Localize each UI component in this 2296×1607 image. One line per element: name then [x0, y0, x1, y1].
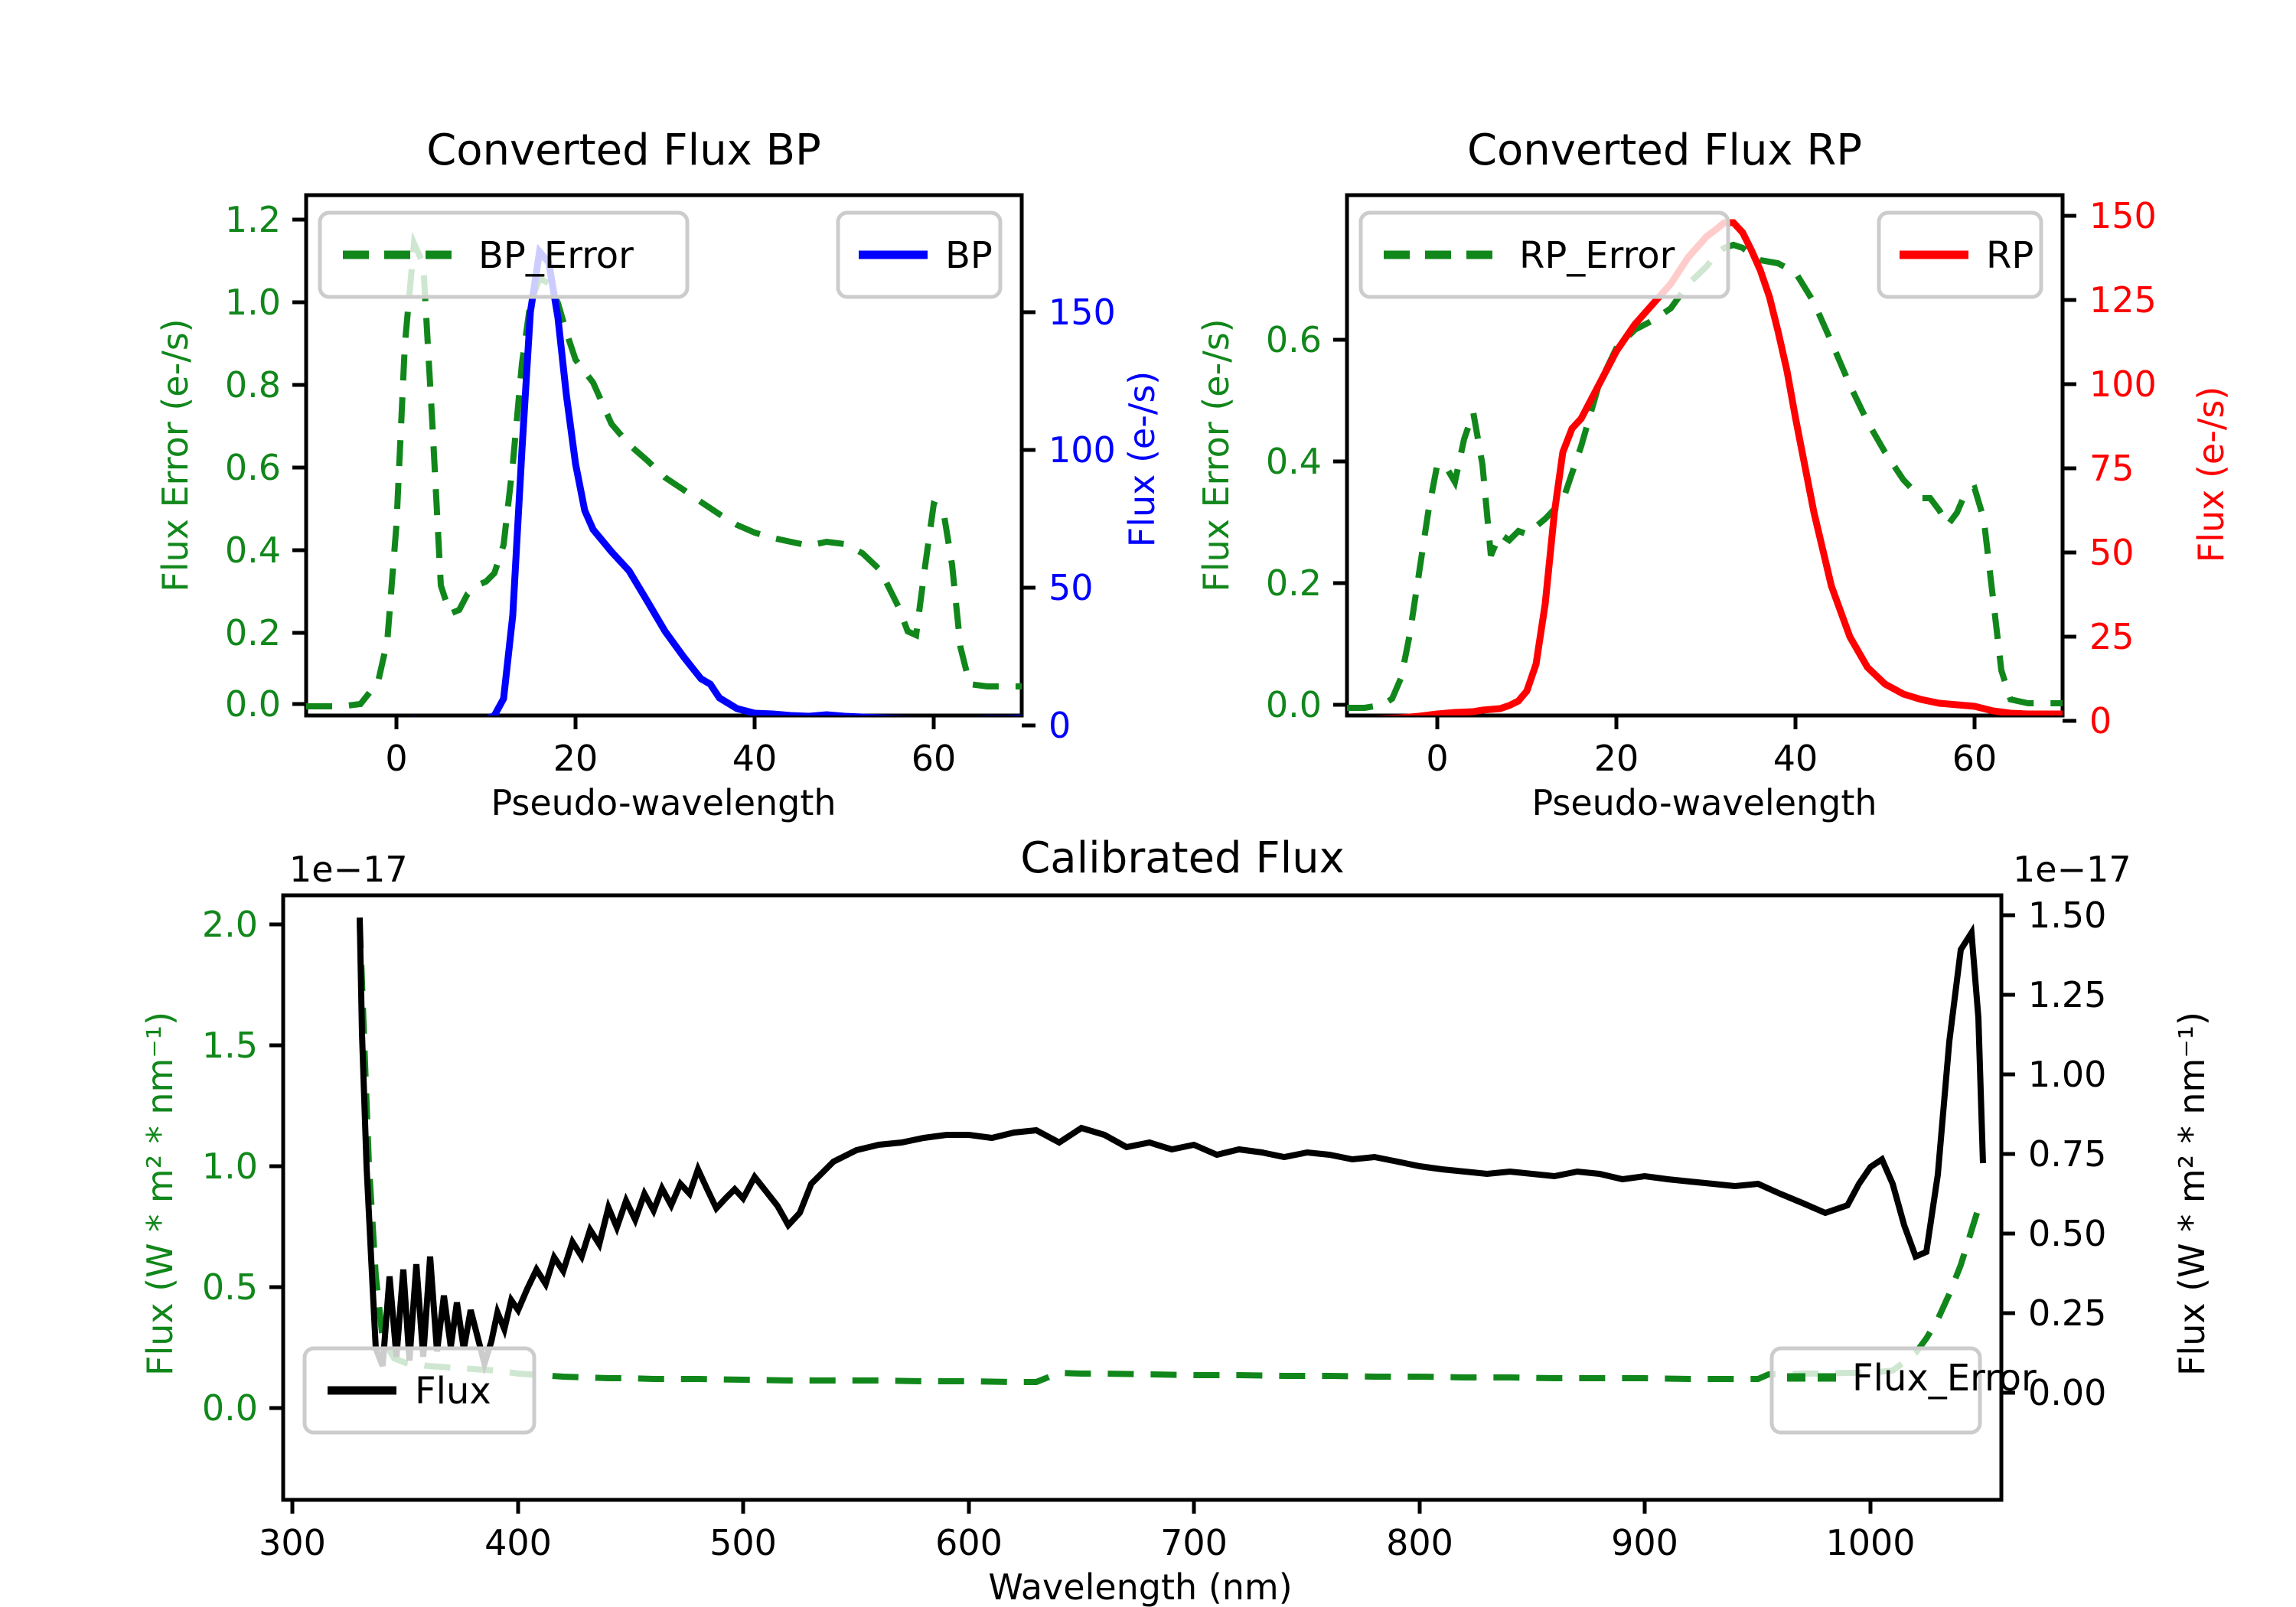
- cal-xtick-900: 900: [1611, 1522, 1678, 1563]
- cal-ytick-1_0: 1.0: [202, 1146, 258, 1187]
- cal-xlabel: Wavelength (nm): [988, 1566, 1292, 1607]
- rp-left-yaxis: 0.6 0.4 0.2 0.0 Flux Error (e-/s): [1195, 318, 1347, 725]
- rp-ytick-right-50: 50: [2089, 532, 2135, 573]
- rp-ytick-0_4: 0.4: [1266, 441, 1322, 482]
- cal-xtick-500: 500: [709, 1522, 777, 1563]
- rp-xtick-0: 0: [1426, 738, 1448, 779]
- bp-ytick-right-100: 100: [1049, 429, 1116, 471]
- rp-xtick-60: 60: [1952, 738, 1998, 779]
- matplotlib-figure: Converted Flux BP 1.2 1.0 0.8 0.6 0.4 0.…: [0, 0, 2296, 1607]
- rp-error-series: [1347, 245, 2064, 708]
- rp-ytick-right-100: 100: [2089, 363, 2157, 405]
- rp-right-ylabel: Flux (e-/s): [2190, 386, 2232, 563]
- cal-legend-error[interactable]: Flux_Error: [1772, 1348, 2037, 1433]
- cal-xtick-1000: 1000: [1825, 1522, 1915, 1563]
- cal-ytick-right-0_50: 0.50: [2028, 1213, 2106, 1254]
- bp-error-series: [306, 243, 1023, 706]
- bp-ytick-0_4: 0.4: [225, 530, 281, 571]
- rp-legend-error-label: RP_Error: [1519, 234, 1675, 277]
- bp-right-yaxis: 150 100 50 0 Flux (e-/s): [1022, 292, 1163, 746]
- bp-xtick-60: 60: [912, 738, 957, 779]
- bp-ytick-0_8: 0.8: [225, 364, 281, 406]
- bp-ytick-0_2: 0.2: [225, 612, 281, 654]
- panel-converted-flux-rp: Converted Flux RP 0.6 0.4 0.2 0.0 Flux E…: [1195, 125, 2232, 823]
- rp-ytick-right-125: 125: [2089, 279, 2157, 321]
- bp-left-ylabel: Flux Error (e-/s): [155, 318, 196, 592]
- rp-ytick-0_6: 0.6: [1266, 319, 1322, 360]
- cal-ytick-1_5: 1.5: [202, 1025, 258, 1066]
- cal-ytick-right-0_75: 0.75: [2028, 1133, 2106, 1175]
- rp-xlabel: Pseudo-wavelength: [1531, 782, 1877, 823]
- bp-right-ylabel: Flux (e-/s): [1121, 371, 1163, 548]
- cal-xtick-300: 300: [259, 1522, 326, 1563]
- cal-legend-flux[interactable]: Flux: [305, 1348, 534, 1433]
- bp-flux-series: [306, 252, 1023, 724]
- cal-left-offset-text: 1e−17: [289, 849, 408, 890]
- cal-xtick-700: 700: [1160, 1522, 1228, 1563]
- bp-ytick-1_2: 1.2: [225, 199, 281, 240]
- cal-ytick-right-1_50: 1.50: [2028, 895, 2106, 936]
- bp-xlabel: Pseudo-wavelength: [491, 782, 836, 823]
- bp-xaxis: 0 20 40 60 Pseudo-wavelength: [385, 715, 956, 823]
- rp-ytick-0_0: 0.0: [1266, 684, 1322, 725]
- cal-ytick-0_5: 0.5: [202, 1266, 258, 1308]
- cal-ytick-right-1_25: 1.25: [2028, 974, 2106, 1015]
- rp-xtick-40: 40: [1773, 738, 1818, 779]
- bp-xtick-20: 20: [553, 738, 598, 779]
- bp-legend-flux[interactable]: BP: [838, 213, 1000, 297]
- cal-panel-title: Calibrated Flux: [1020, 833, 1345, 883]
- bp-ytick-right-0: 0: [1049, 705, 1071, 746]
- cal-legend-flux-label: Flux: [415, 1370, 491, 1413]
- rp-legend-flux-label: RP: [1986, 234, 2033, 277]
- cal-legend-error-label: Flux_Error: [1852, 1357, 2037, 1400]
- rp-ytick-right-150: 150: [2089, 195, 2157, 236]
- figure-canvas: Converted Flux BP 1.2 1.0 0.8 0.6 0.4 0.…: [0, 0, 2296, 1607]
- bp-legend-error[interactable]: BP_Error: [320, 213, 687, 297]
- rp-left-ylabel: Flux Error (e-/s): [1195, 318, 1237, 592]
- cal-left-yaxis: 2.0 1.5 1.0 0.5 0.0 Flux (W * m² * nm⁻¹): [139, 904, 283, 1429]
- bp-ytick-0_6: 0.6: [225, 447, 281, 488]
- panel-calibrated-flux: Calibrated Flux 1e−17 1e−17 2.0 1.5 1.0 …: [139, 833, 2213, 1607]
- cal-ytick-right-0_25: 0.25: [2028, 1292, 2106, 1334]
- bp-ytick-right-150: 150: [1049, 292, 1116, 333]
- rp-ytick-right-0: 0: [2089, 700, 2112, 742]
- bp-panel-title: Converted Flux BP: [426, 125, 821, 175]
- rp-ytick-right-25: 25: [2089, 616, 2135, 657]
- bp-ytick-0_0: 0.0: [225, 683, 281, 725]
- cal-ytick-0_0: 0.0: [202, 1387, 258, 1429]
- cal-xtick-400: 400: [484, 1522, 552, 1563]
- rp-ytick-right-75: 75: [2089, 448, 2135, 489]
- bp-xtick-0: 0: [385, 738, 407, 779]
- cal-right-offset-text: 1e−17: [2013, 849, 2131, 890]
- cal-left-ylabel: Flux (W * m² * nm⁻¹): [139, 1012, 181, 1376]
- rp-legend-flux[interactable]: RP: [1879, 213, 2041, 297]
- bp-legend-error-label: BP_Error: [478, 234, 634, 277]
- cal-xtick-600: 600: [935, 1522, 1003, 1563]
- bp-ytick-1_0: 1.0: [225, 282, 281, 323]
- rp-ytick-0_2: 0.2: [1266, 562, 1322, 604]
- rp-panel-title: Converted Flux RP: [1467, 125, 1862, 175]
- cal-xaxis: 300 400 500 600 700 800 900 1000 Wavelen…: [259, 1500, 1915, 1607]
- cal-right-ylabel: Flux (W * m² * nm⁻¹): [2171, 1012, 2213, 1376]
- rp-xtick-20: 20: [1594, 738, 1639, 779]
- cal-flux-series: [360, 918, 1983, 1366]
- cal-xtick-800: 800: [1386, 1522, 1453, 1563]
- cal-ytick-2_0: 2.0: [202, 904, 258, 945]
- rp-right-yaxis: 150 125 100 75 50 25 0 Flux (e-/s): [2063, 195, 2232, 742]
- rp-xaxis: 0 20 40 60 Pseudo-wavelength: [1426, 715, 1997, 823]
- cal-ytick-right-0_00: 0.00: [2028, 1372, 2106, 1413]
- panel-converted-flux-bp: Converted Flux BP 1.2 1.0 0.8 0.6 0.4 0.…: [155, 125, 1163, 823]
- cal-ytick-right-1_00: 1.00: [2028, 1054, 2106, 1095]
- cal-right-yaxis: 1.50 1.25 1.00 0.75 0.50 0.25 0.00 Flux …: [2001, 895, 2213, 1413]
- bp-legend-flux-label: BP: [945, 234, 993, 277]
- bp-ytick-right-50: 50: [1049, 567, 1094, 608]
- cal-axes-frame: [283, 895, 2001, 1500]
- bp-xtick-40: 40: [732, 738, 778, 779]
- rp-legend-error[interactable]: RP_Error: [1361, 213, 1728, 297]
- bp-left-yaxis: 1.2 1.0 0.8 0.6 0.4 0.2 0.0 Flux Error (…: [155, 199, 306, 725]
